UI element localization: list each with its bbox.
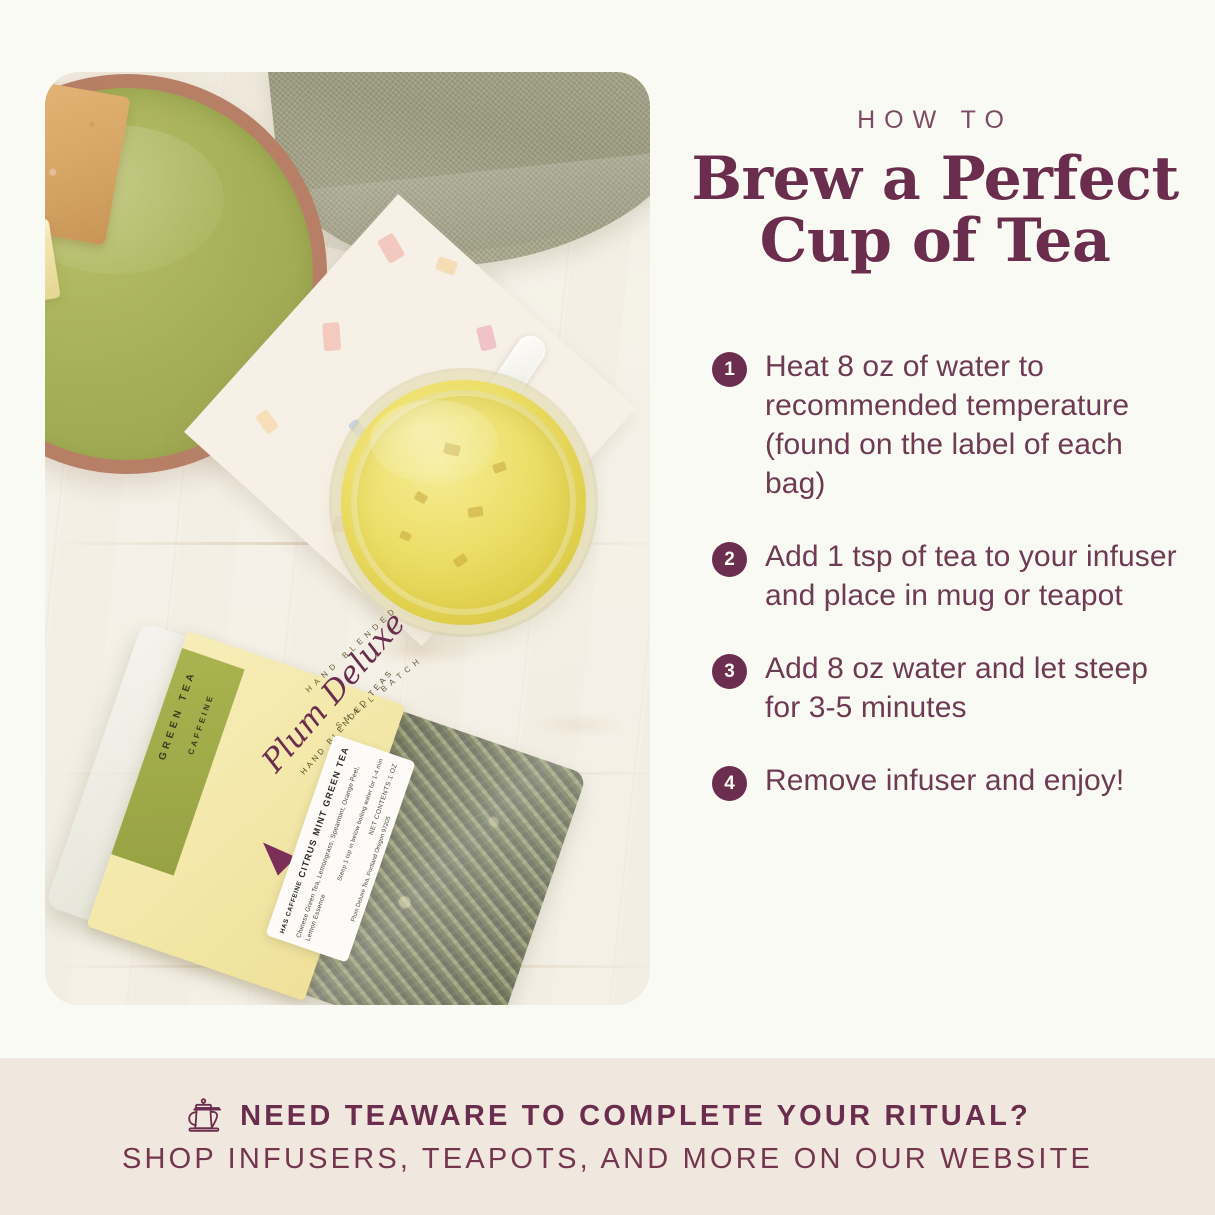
step-number-badge: 3 [712, 654, 747, 689]
step-number-badge: 1 [712, 352, 747, 387]
footer-secondary-line: SHOP INFUSERS, TEAPOTS, AND MORE ON OUR … [122, 1143, 1093, 1176]
list-item: 3 Add 8 oz water and let steep for 3-5 m… [712, 649, 1180, 727]
list-item: 1 Heat 8 oz of water to recommended temp… [712, 347, 1180, 503]
step-number-badge: 2 [712, 542, 747, 577]
step-number-badge: 4 [712, 766, 747, 801]
infographic-page: GREEN TEA CAFFEINE HAND BLENDED SMALL BA… [0, 0, 1215, 1215]
photo-inner: GREEN TEA CAFFEINE HAND BLENDED SMALL BA… [45, 72, 650, 1005]
footer-banner: NEED TEAWARE TO COMPLETE YOUR RITUAL? SH… [0, 1058, 1215, 1215]
page-title: Brew a Perfect Cup of Tea [690, 149, 1180, 273]
list-item: 4 Remove infuser and enjoy! [712, 761, 1180, 801]
footer-primary-line: NEED TEAWARE TO COMPLETE YOUR RITUAL? [184, 1097, 1031, 1135]
page-title-line2: Cup of Tea [690, 211, 1180, 273]
steps-list: 1 Heat 8 oz of water to recommended temp… [690, 347, 1180, 801]
teapot-icon [184, 1097, 224, 1135]
hero-photo: GREEN TEA CAFFEINE HAND BLENDED SMALL BA… [45, 72, 650, 1005]
step-text: Add 8 oz water and let steep for 3-5 min… [765, 649, 1180, 727]
eyebrow-text: HOW TO [690, 106, 1180, 135]
cup-sheen [370, 400, 497, 483]
instructions-panel: HOW TO Brew a Perfect Cup of Tea 1 Heat … [690, 0, 1180, 1050]
page-title-line1: Brew a Perfect [690, 149, 1180, 211]
tea-cup [341, 380, 586, 625]
footer-line1-text: NEED TEAWARE TO COMPLETE YOUR RITUAL? [240, 1100, 1031, 1133]
step-text: Remove infuser and enjoy! [765, 761, 1124, 801]
list-item: 2 Add 1 tsp of tea to your infuser and p… [712, 537, 1180, 615]
step-text: Heat 8 oz of water to recommended temper… [765, 347, 1180, 503]
terrazzo-chip [255, 409, 279, 435]
package-caffeine-label: CAFFEINE [186, 693, 215, 756]
terrazzo-chip [476, 325, 497, 352]
terrazzo-chip [435, 256, 459, 276]
step-text: Add 1 tsp of tea to your infuser and pla… [765, 537, 1180, 615]
terrazzo-chip [322, 322, 341, 351]
terrazzo-chip [377, 232, 406, 264]
